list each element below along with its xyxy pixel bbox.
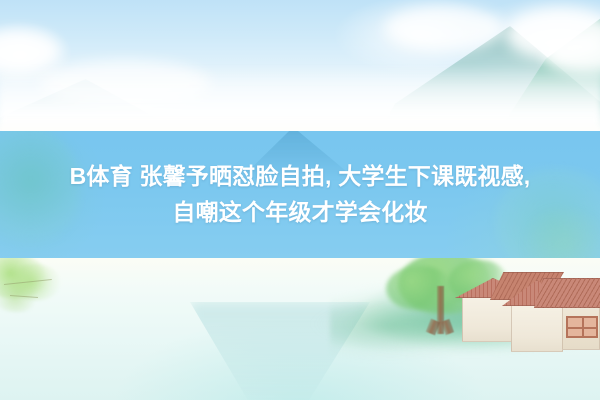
- mist-layer: [0, 65, 600, 137]
- headline-line-1: B体育 张馨予晒怼脸自拍, 大学生下课既视感,: [0, 158, 600, 194]
- house-front-roof-slope: [534, 278, 600, 308]
- village-scene: [0, 258, 600, 400]
- cloud-upper-center: [385, 6, 505, 50]
- cover-image: B体育 张馨予晒怼脸自拍, 大学生下课既视感, 自嘲这个年级才学会化妆: [0, 0, 600, 400]
- window-bar-horizontal: [568, 327, 596, 329]
- house-front-gable-wall: [511, 304, 563, 352]
- sky-band: [0, 0, 600, 131]
- headline: B体育 张馨予晒怼脸自拍, 大学生下课既视感, 自嘲这个年级才学会化妆: [0, 158, 600, 230]
- house-front-window: [566, 316, 598, 338]
- headline-line-2: 自嘲这个年级才学会化妆: [0, 194, 600, 230]
